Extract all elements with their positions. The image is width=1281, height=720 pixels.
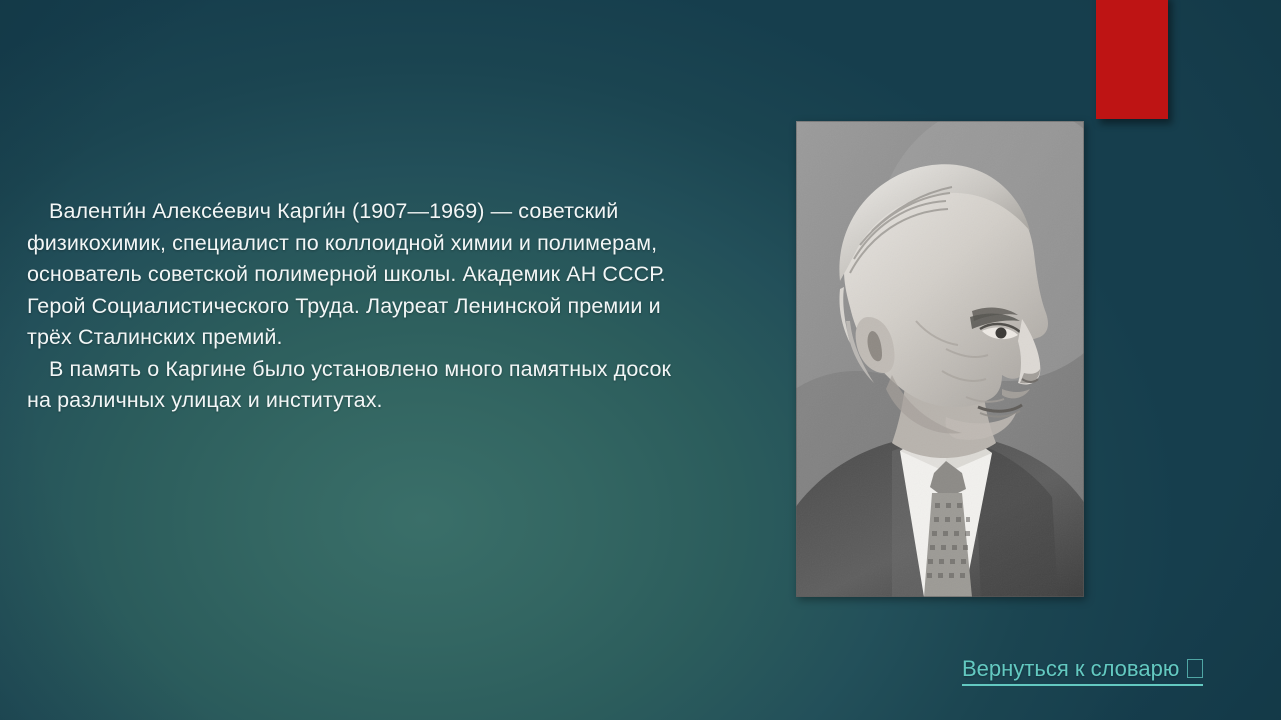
return-to-glossary-link[interactable]: Вернуться к словарю bbox=[962, 655, 1203, 686]
portrait-photo bbox=[796, 121, 1084, 597]
presentation-slide: Валенти́н Алексе́евич Карги́н (1907—1969… bbox=[0, 0, 1281, 720]
missing-glyph-box-icon bbox=[1187, 659, 1203, 678]
body-paragraph-1: Валенти́н Алексе́евич Карги́н (1907—1969… bbox=[27, 196, 687, 354]
body-paragraph-2: В память о Каргине было установлено мног… bbox=[27, 354, 687, 417]
portrait-photo-image bbox=[796, 121, 1084, 597]
slide-body-text: Валенти́н Алексе́евич Карги́н (1907—1969… bbox=[27, 196, 687, 417]
red-accent-rectangle bbox=[1096, 0, 1168, 119]
navigation-link-container: Вернуться к словарю bbox=[962, 655, 1203, 686]
return-to-glossary-label: Вернуться к словарю bbox=[962, 656, 1179, 681]
